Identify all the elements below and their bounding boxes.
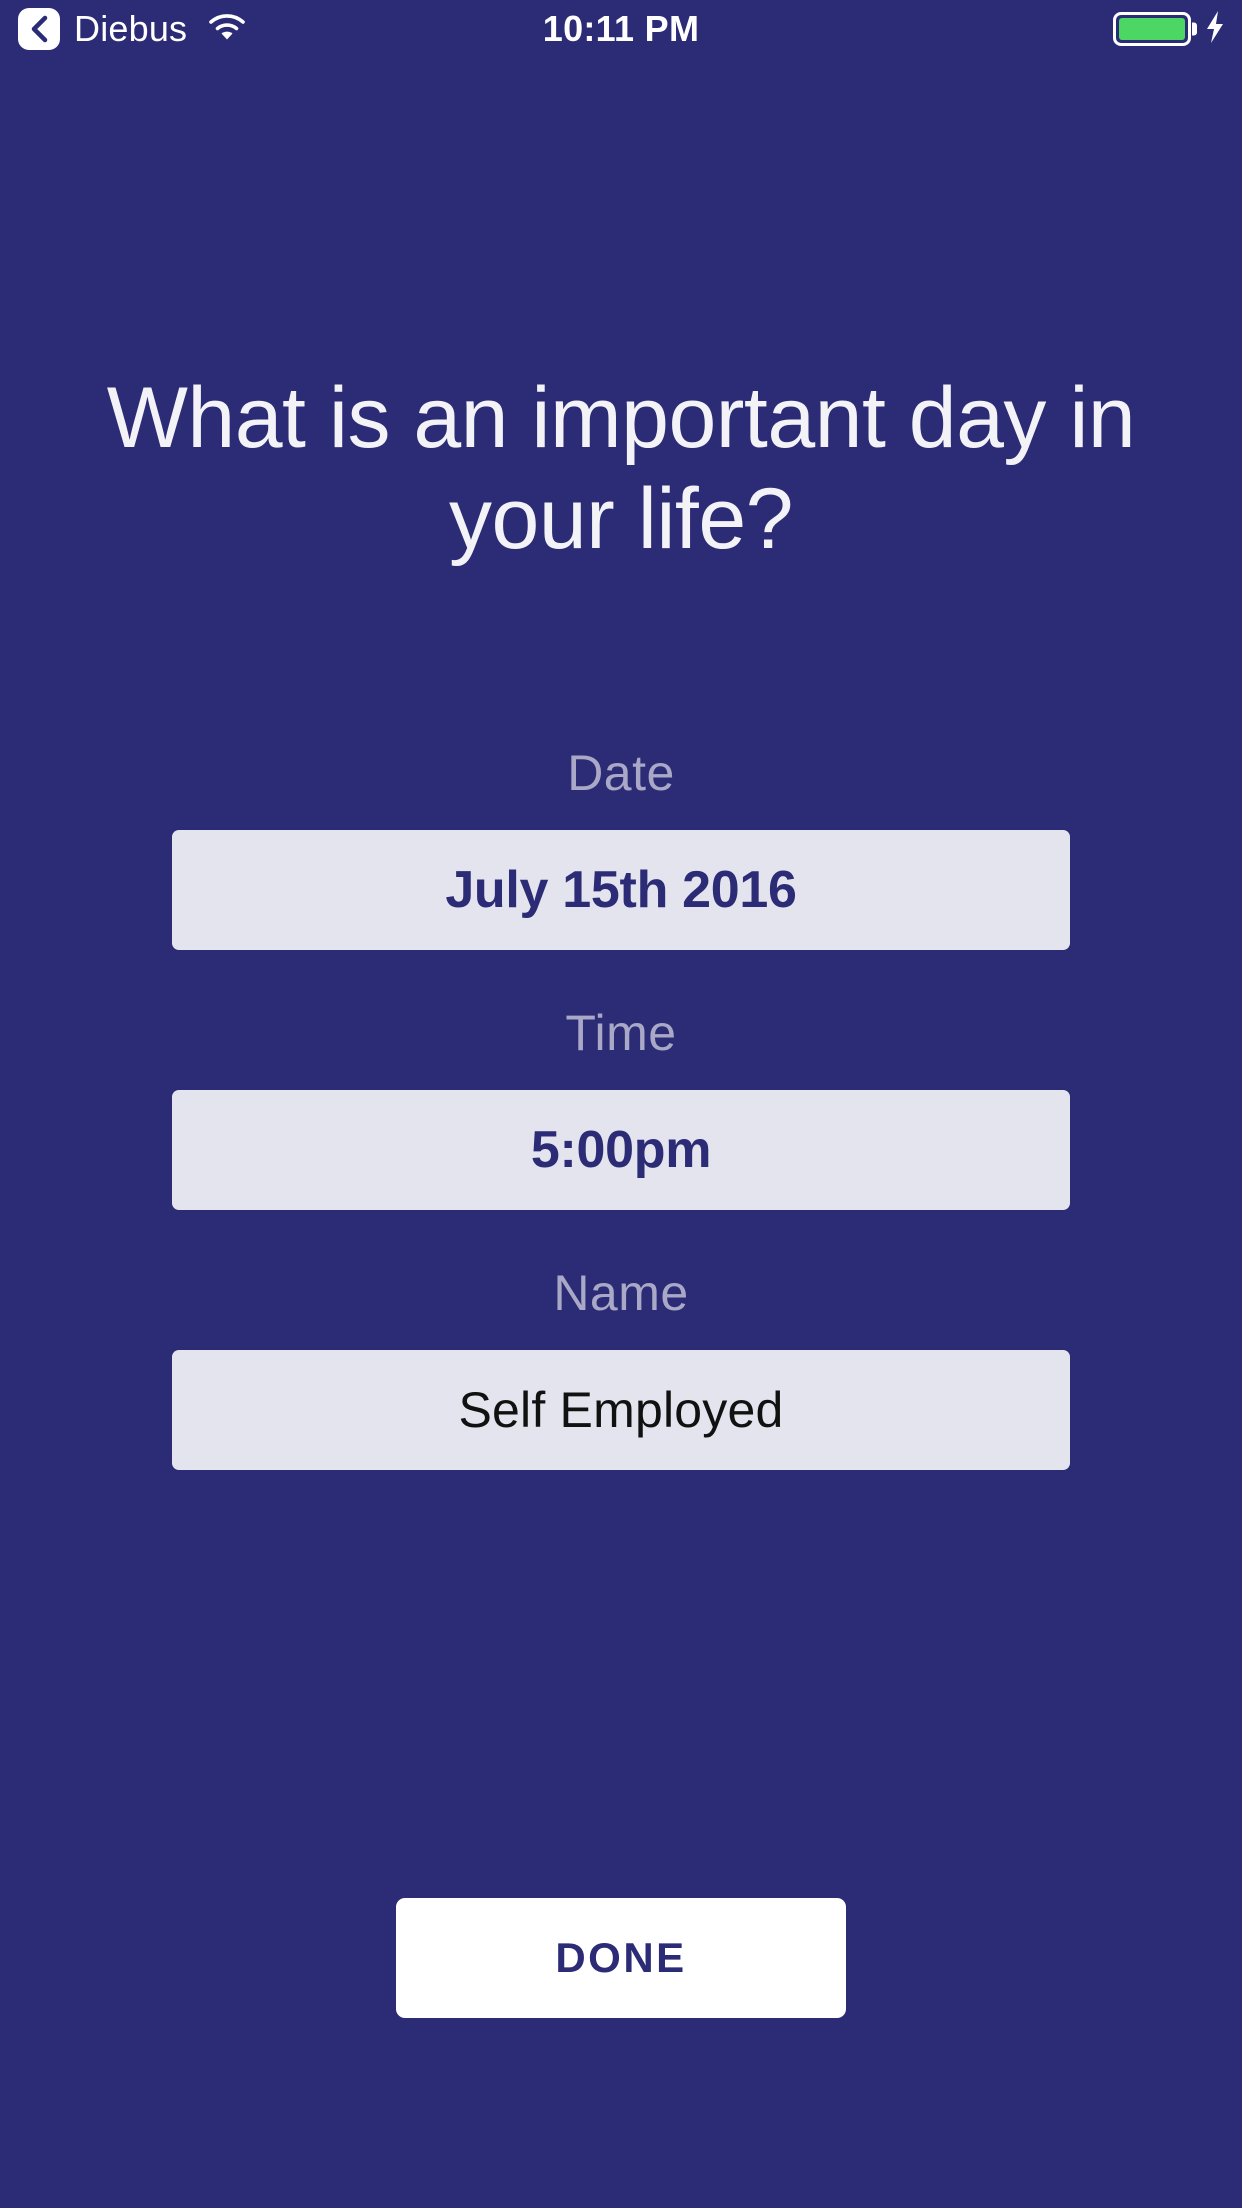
page-title: What is an important day in your life?	[0, 368, 1242, 571]
status-bar-left: Diebus	[18, 8, 247, 50]
chevron-left-icon	[29, 15, 49, 43]
status-bar: Diebus 10:11 PM	[0, 0, 1242, 58]
time-picker-field[interactable]: 5:00pm	[172, 1090, 1070, 1210]
field-group-date: Date July 15th 2016	[0, 748, 1242, 950]
field-list: Date July 15th 2016 Time 5:00pm Name Sel…	[0, 748, 1242, 1470]
field-group-time: Time 5:00pm	[0, 1008, 1242, 1210]
battery-fill	[1119, 18, 1185, 40]
done-button[interactable]: DONE	[396, 1898, 846, 2018]
wifi-icon	[207, 12, 247, 47]
carrier-label: Diebus	[74, 11, 187, 47]
name-value[interactable]: Self Employed	[459, 1385, 784, 1435]
time-label: Time	[0, 1008, 1242, 1058]
name-input-field[interactable]: Self Employed	[172, 1350, 1070, 1470]
lightning-bolt-icon	[1204, 10, 1226, 49]
status-bar-right	[1113, 0, 1226, 58]
date-label: Date	[0, 748, 1242, 798]
question-screen: What is an important day in your life? D…	[0, 58, 1242, 2208]
time-value: 5:00pm	[531, 1124, 711, 1176]
date-value: July 15th 2016	[445, 864, 796, 916]
field-group-name: Name Self Employed	[0, 1268, 1242, 1470]
name-label: Name	[0, 1268, 1242, 1318]
clock-label: 10:11 PM	[543, 11, 700, 47]
back-to-app-button[interactable]	[18, 8, 60, 50]
date-picker-field[interactable]: July 15th 2016	[172, 830, 1070, 950]
battery-full-icon	[1113, 12, 1191, 46]
